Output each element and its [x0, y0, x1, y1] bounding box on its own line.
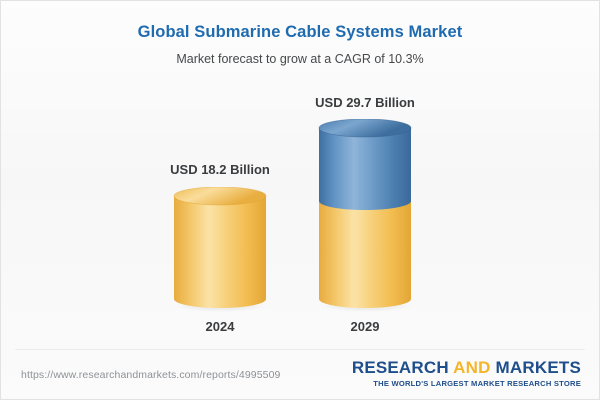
bar-value-label-2024: USD 18.2 Billion [120, 162, 320, 177]
logo-word-research: RESEARCH [352, 358, 449, 377]
bar-category-label-2029: 2029 [265, 319, 465, 334]
logo-word-markets: MARKETS [496, 358, 581, 377]
bar-value-label-2029: USD 29.7 Billion [265, 95, 465, 110]
report-url-link[interactable]: https://www.researchandmarkets.com/repor… [21, 369, 280, 381]
research-and-markets-logo[interactable]: RESEARCH AND MARKETS THE WORLD'S LARGEST… [352, 358, 581, 388]
cylinder-bar-2024[interactable] [171, 187, 269, 313]
chart-footer: https://www.researchandmarkets.com/repor… [1, 350, 599, 399]
logo-wordmark: RESEARCH AND MARKETS [352, 358, 581, 377]
logo-word-and: AND [453, 358, 490, 377]
logo-tagline: THE WORLD'S LARGEST MARKET RESEARCH STOR… [352, 379, 581, 388]
chart-plot-area: USD 18.2 Billion [1, 1, 600, 349]
chart-card: Global Submarine Cable Systems Market Ma… [0, 0, 600, 400]
cylinder-bar-2029[interactable] [316, 119, 414, 313]
